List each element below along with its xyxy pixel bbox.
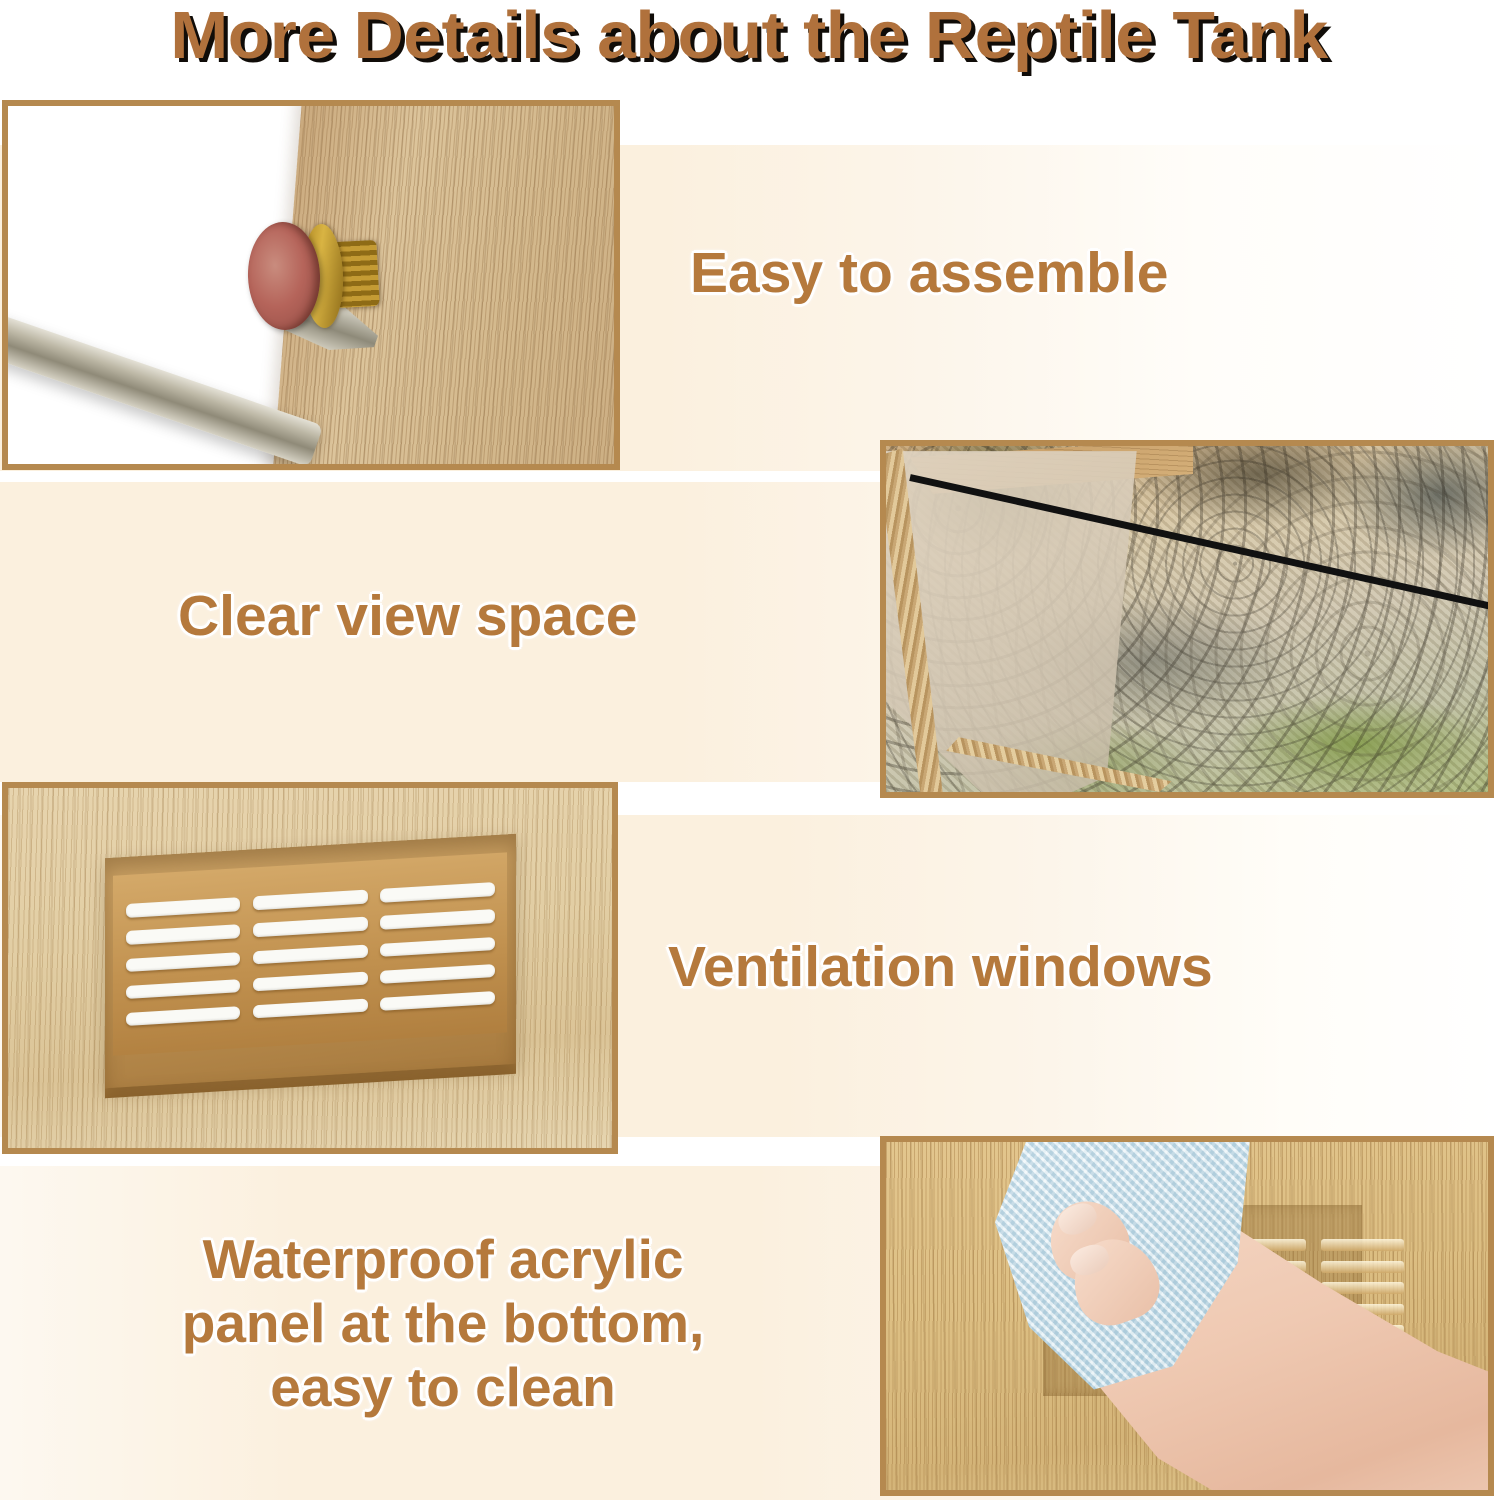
vent-slot xyxy=(380,909,495,929)
feature-caption-easy-to-assemble: Easy to assemble xyxy=(690,240,1168,306)
feature-photo-clear-view-space xyxy=(880,440,1494,798)
vent-slot-column xyxy=(125,897,240,1026)
photo-4-content xyxy=(886,1142,1488,1490)
vent-slot xyxy=(125,978,240,998)
feature-caption-ventilation-windows: Ventilation windows xyxy=(668,934,1213,1000)
vent-slot xyxy=(253,889,368,909)
photo-2-content xyxy=(886,446,1488,792)
vent-slot xyxy=(253,944,368,964)
mini-vent-slot xyxy=(1321,1239,1404,1251)
vent-slot-column xyxy=(380,882,495,1011)
vent-slot xyxy=(380,963,495,983)
vent-slot xyxy=(253,917,368,937)
vent-recess-graphic xyxy=(105,833,516,1088)
feature-photo-easy-to-assemble xyxy=(2,100,620,470)
vent-slot xyxy=(380,991,495,1011)
vent-plate-graphic xyxy=(113,852,507,1055)
vent-slot xyxy=(253,998,368,1018)
vent-slot xyxy=(253,971,368,991)
vent-slot xyxy=(125,1006,240,1026)
photo-3-content xyxy=(8,788,612,1148)
vent-slot-column xyxy=(253,889,368,1018)
mini-vent-slot xyxy=(1321,1261,1404,1273)
vent-slot xyxy=(125,897,240,917)
vent-slot xyxy=(125,924,240,944)
feature-caption-clear-view-space: Clear view space xyxy=(178,583,637,649)
feature-photo-ventilation-windows xyxy=(2,782,618,1154)
photo-1-content xyxy=(8,106,614,464)
infographic-root: More Details about the Reptile Tank Easy… xyxy=(0,0,1498,1500)
feature-photo-waterproof-acrylic-panel xyxy=(880,1136,1494,1496)
vent-slot xyxy=(125,951,240,971)
vent-slot xyxy=(380,882,495,902)
screwdriver-shaft-graphic xyxy=(2,308,323,468)
page-title: More Details about the Reptile Tank xyxy=(0,0,1498,78)
feature-caption-waterproof-acrylic-panel: Waterproof acrylic panel at the bottom, … xyxy=(78,1228,808,1419)
vent-slot xyxy=(380,936,495,956)
